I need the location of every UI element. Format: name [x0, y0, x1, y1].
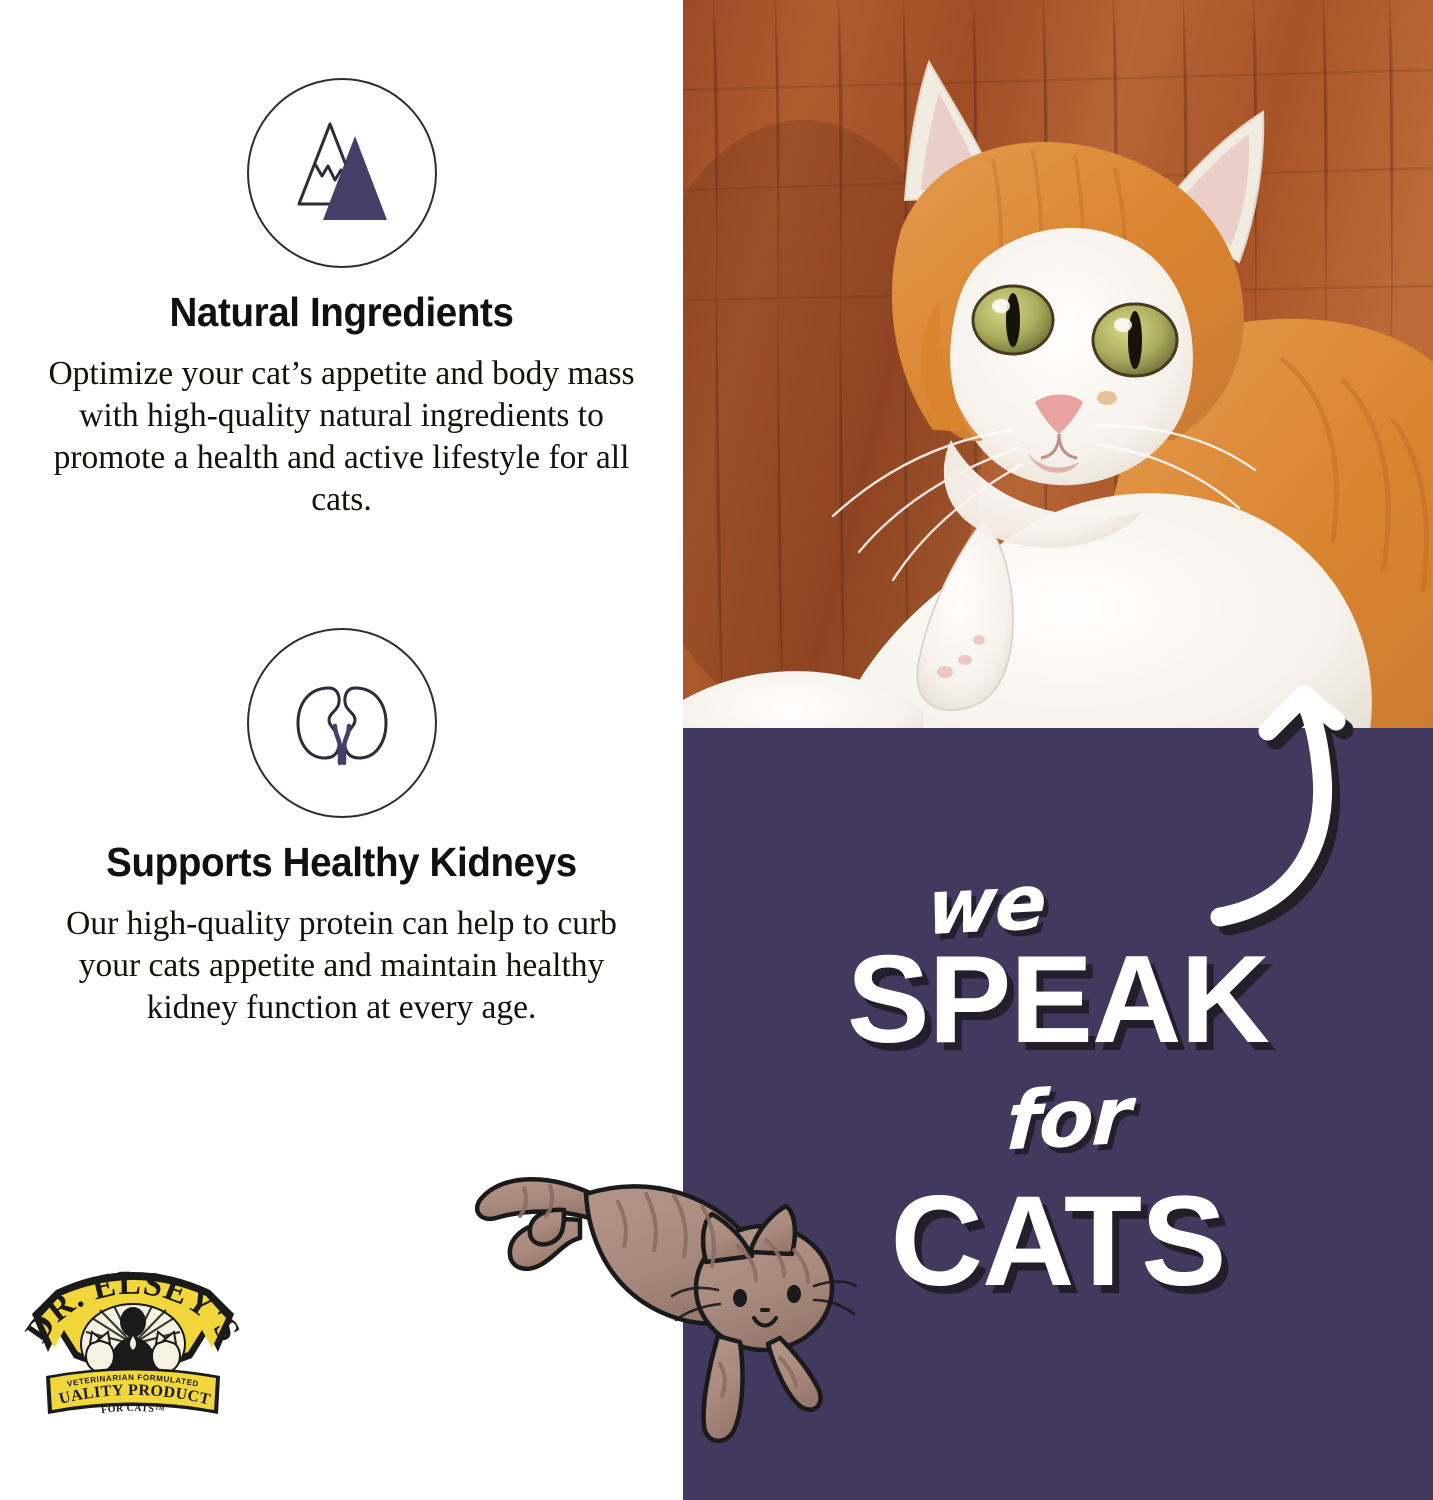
svg-text:FOR CATS™: FOR CATS™ — [100, 1403, 165, 1416]
mountains-icon — [247, 78, 437, 268]
dr-elseys-logo: DR. ELSEY'S ® VETERINARIAN FORMULATED QU… — [22, 1262, 244, 1432]
logo-registered-mark: ® — [227, 1317, 233, 1326]
kidneys-icon — [247, 628, 437, 818]
feature-natural-ingredients: Natural Ingredients Optimize your cat’s … — [0, 78, 683, 521]
feature-supports-healthy-kidneys: Supports Healthy Kidneys Our high-qualit… — [0, 628, 683, 1029]
features-column: Natural Ingredients Optimize your cat’s … — [0, 0, 683, 1500]
feature-title: Natural Ingredients — [20, 290, 662, 335]
headline-line-speak: SPEAK — [683, 938, 1433, 1062]
headline-line-cats: CATS — [683, 1178, 1433, 1306]
feature-title: Supports Healthy Kidneys — [20, 840, 662, 885]
marketing-infographic: Natural Ingredients Optimize your cat’s … — [0, 0, 1433, 1500]
headline-block: we SPEAK for CATS — [683, 860, 1433, 1340]
headline-line-for: for — [691, 1052, 1433, 1185]
logo-banner-line-3: FOR CATS™ — [100, 1403, 165, 1416]
ginger-white-cat-photo — [683, 0, 1433, 728]
feature-description: Our high-quality protein can help to cur… — [52, 903, 632, 1029]
feature-description: Optimize your cat’s appetite and body ma… — [22, 353, 662, 521]
